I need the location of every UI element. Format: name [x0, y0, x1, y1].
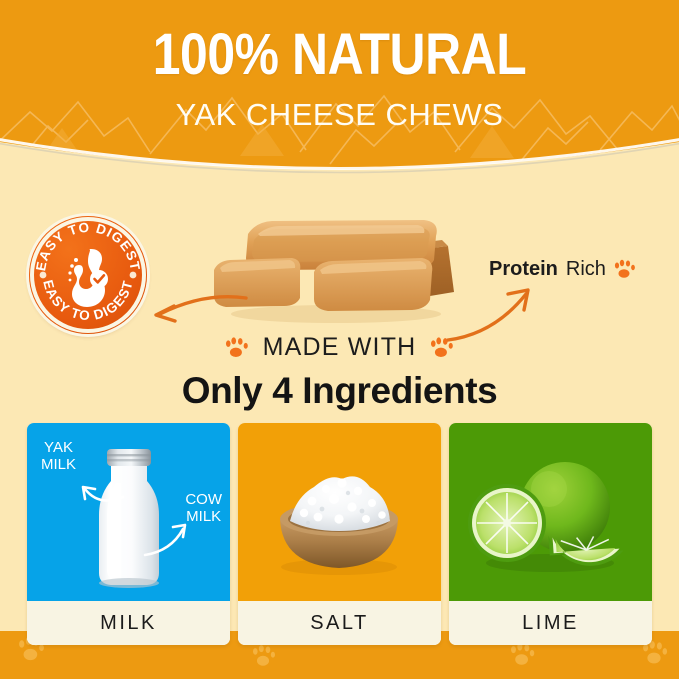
protein-rich-callout: Protein Rich — [489, 258, 636, 281]
lime-half — [468, 484, 546, 562]
arrow-to-badge-icon — [134, 288, 252, 336]
cow-milk-note: COW MILK — [185, 491, 222, 525]
ingredient-card-lime[interactable]: LIME — [449, 423, 652, 645]
ingredient-cards: YAK MILK COW MILK MILK — [27, 423, 652, 645]
lime-card-image — [449, 423, 652, 601]
badge-graphic: EASY TO DIGEST EASY TO DIGEST — [29, 216, 147, 334]
ingredient-card-milk[interactable]: YAK MILK COW MILK MILK — [27, 423, 230, 645]
infographic-page: 100% NATURAL YAK CHEESE CHEWS EASY TO DI… — [0, 0, 679, 679]
made-with-row: MADE WITH — [0, 333, 679, 362]
ingredient-card-salt[interactable]: SALT — [238, 423, 441, 645]
chew-bar-front — [314, 258, 432, 311]
ingredients-headline: Only 4 Ingredients — [0, 370, 679, 412]
ingredient-label-milk: MILK — [27, 601, 230, 645]
lime-fruit-icon — [449, 423, 652, 601]
page-subtitle: YAK CHEESE CHEWS — [0, 98, 679, 132]
salt-card-image — [238, 423, 441, 601]
ingredient-label-salt: SALT — [238, 601, 441, 645]
badge-text-top: EASY TO DIGEST — [33, 220, 143, 273]
made-with-label: MADE WITH — [263, 333, 417, 362]
salt-bowl-icon — [238, 423, 441, 601]
yak-milk-note: YAK MILK — [41, 439, 76, 473]
milk-card-image: YAK MILK COW MILK — [27, 423, 230, 601]
protein-label-light: Rich — [566, 258, 606, 281]
easy-to-digest-badge: EASY TO DIGEST EASY TO DIGEST — [29, 216, 147, 334]
header-banner: 100% NATURAL YAK CHEESE CHEWS — [0, 0, 679, 185]
ingredient-label-lime: LIME — [449, 601, 652, 645]
page-title: 100% NATURAL — [48, 26, 632, 84]
paw-icon — [430, 337, 454, 359]
protein-label-strong: Protein — [489, 258, 558, 281]
paw-icon — [225, 337, 249, 359]
paw-icon — [614, 259, 636, 280]
